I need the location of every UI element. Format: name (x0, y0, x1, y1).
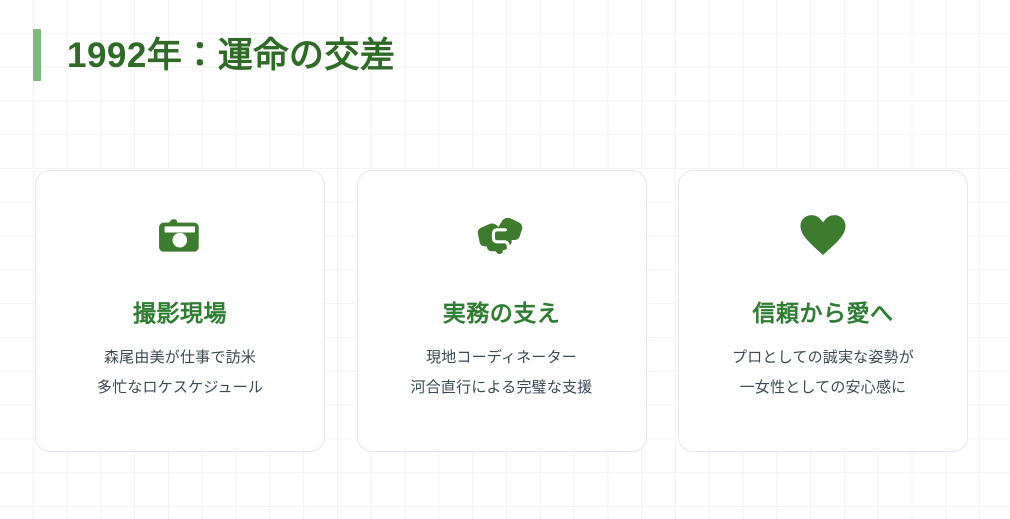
slide-header: 1992年：運命の交差 (33, 29, 395, 81)
card-body: プロとしての誠実な姿勢が 一女性としての安心感に (732, 343, 914, 403)
card-title: 実務の支え (443, 301, 561, 326)
card-title: 信頼から愛へ (753, 301, 894, 326)
feature-card-trust-to-love[interactable]: 信頼から愛へ プロとしての誠実な姿勢が 一女性としての安心感に (678, 170, 968, 452)
page-title: 1992年：運命の交差 (67, 38, 395, 73)
heart-icon (796, 209, 850, 263)
card-body: 現地コーディネーター 河合直行による完璧な支援 (411, 343, 593, 403)
feature-card-filming-location[interactable]: 撮影現場 森尾由美が仕事で訪米 多忙なロケスケジュール (35, 170, 325, 452)
card-title: 撮影現場 (133, 301, 227, 326)
camera-icon (153, 209, 207, 263)
handshake-icon (475, 209, 529, 263)
feature-card-row: 撮影現場 森尾由美が仕事で訪米 多忙なロケスケジュール 実務の支え 現地コーディ… (35, 170, 968, 452)
slide-root: 1992年：運命の交差 撮影現場 森尾由美が仕事で訪米 多忙なロケスケジュール (0, 0, 1010, 519)
card-body: 森尾由美が仕事で訪米 多忙なロケスケジュール (97, 343, 263, 403)
title-accent-bar (33, 29, 41, 81)
feature-card-practical-support[interactable]: 実務の支え 現地コーディネーター 河合直行による完璧な支援 (357, 170, 647, 452)
